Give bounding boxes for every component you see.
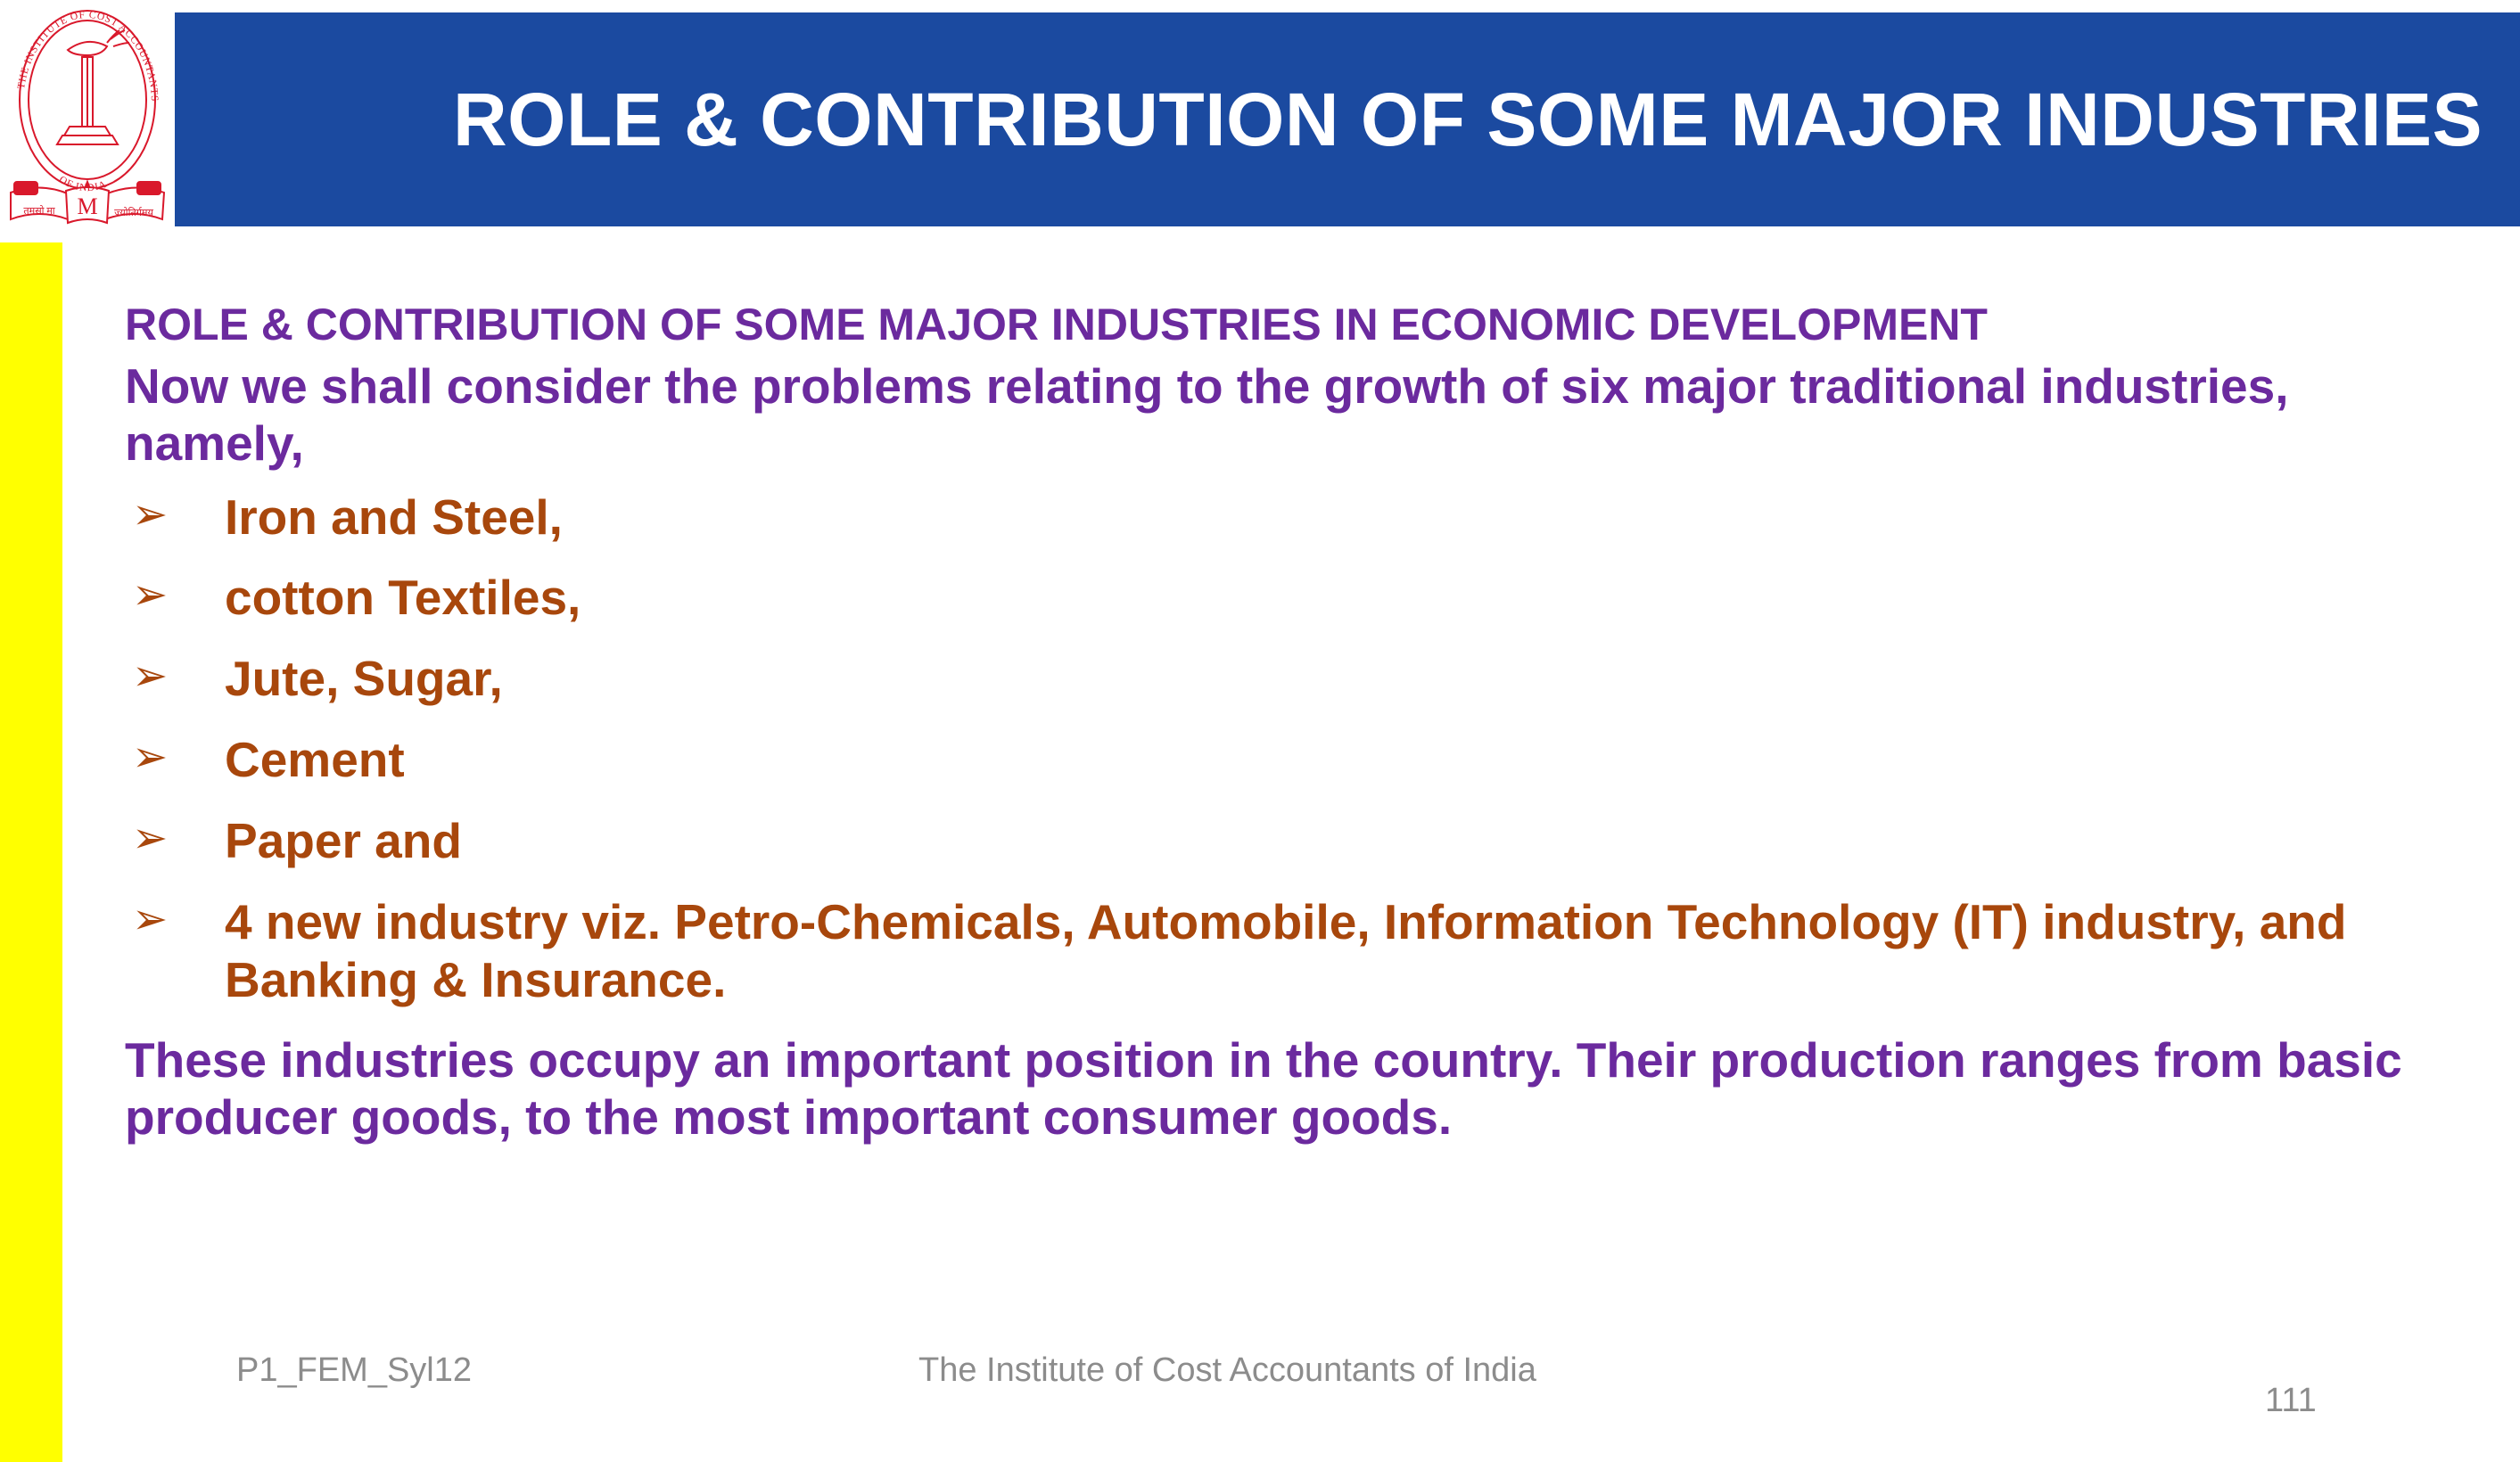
list-item-label: Iron and Steel,: [225, 489, 2472, 546]
footer-page-number: 111: [2265, 1382, 2317, 1420]
list-item-label: Paper and: [225, 812, 2472, 870]
footer-organization: The Institute of Cost Accountants of Ind…: [918, 1351, 1536, 1390]
slide-header-band: ROLE & CONTRIBUTION OF SOME MAJOR INDUST…: [175, 12, 2520, 226]
list-item-label: cotton Textiles,: [225, 569, 2472, 627]
arrow-bullet-icon: ➢: [125, 893, 225, 947]
arrow-bullet-icon: ➢: [125, 569, 225, 622]
footer-course-code: P1_FEM_Syl12: [236, 1351, 472, 1390]
list-item: ➢ Iron and Steel,: [125, 489, 2488, 546]
list-item-label: 4 new industry viz. Petro-Chemicals, Aut…: [225, 893, 2472, 1009]
intro-paragraph: Now we shall consider the problems relat…: [125, 358, 2470, 472]
arrow-bullet-icon: ➢: [125, 650, 225, 703]
slide-body: ROLE & CONTRIBUTION OF SOME MAJOR INDUST…: [125, 300, 2488, 1146]
list-item: ➢ cotton Textiles,: [125, 569, 2488, 627]
slide-title: ROLE & CONTRIBUTION OF SOME MAJOR INDUST…: [453, 82, 2483, 157]
arrow-bullet-icon: ➢: [125, 731, 225, 784]
list-item: ➢ 4 new industry viz. Petro-Chemicals, A…: [125, 893, 2488, 1009]
svg-text:ज्योतिर्गमय: ज्योतिर्गमय: [114, 207, 153, 218]
closing-paragraph: These industries occupy an important pos…: [125, 1032, 2470, 1146]
left-accent-stripe: [0, 242, 62, 1462]
list-item-label: Cement: [225, 731, 2472, 789]
list-item-label: Jute, Sugar,: [225, 650, 2472, 708]
svg-text:तमसो मा: तमसो मा: [23, 205, 54, 217]
list-item: ➢ Cement: [125, 731, 2488, 789]
arrow-bullet-icon: ➢: [125, 489, 225, 542]
body-lead-heading: ROLE & CONTRIBUTION OF SOME MAJOR INDUST…: [125, 300, 2488, 349]
industries-bullet-list: ➢ Iron and Steel, ➢ cotton Textiles, ➢ J…: [125, 489, 2488, 1009]
arrow-bullet-icon: ➢: [125, 812, 225, 866]
list-item: ➢ Jute, Sugar,: [125, 650, 2488, 708]
list-item: ➢ Paper and: [125, 812, 2488, 870]
institute-logo: M तमसो मा ज्योतिर्गमय THE INSTITUTE OF C…: [7, 4, 168, 234]
svg-text:M: M: [77, 193, 97, 219]
